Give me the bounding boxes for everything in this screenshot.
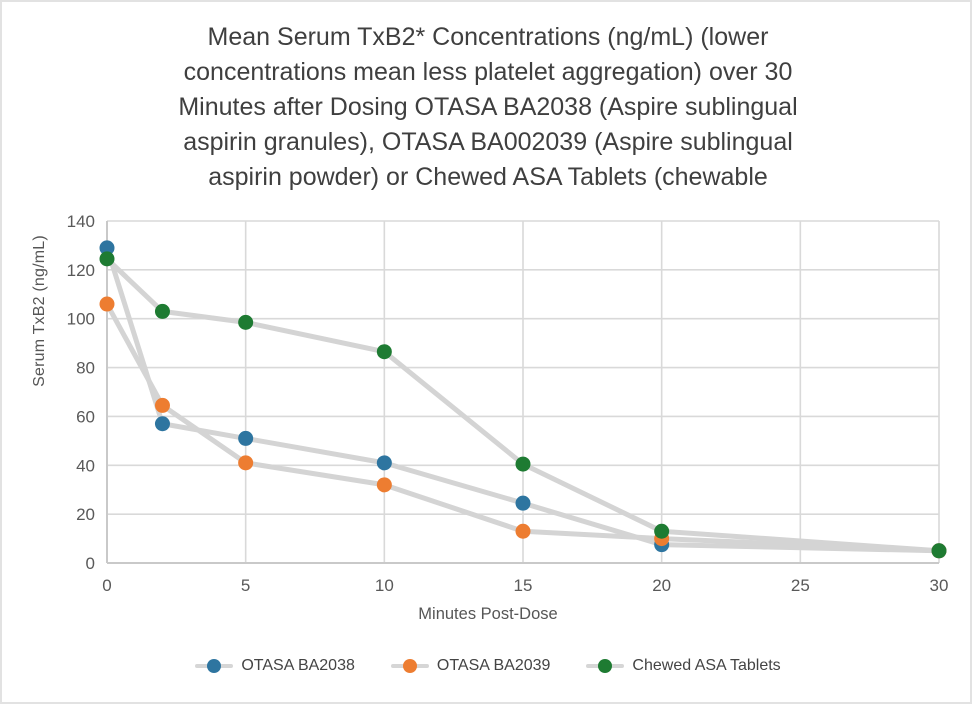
y-tick-label: 40 bbox=[76, 456, 95, 475]
chart-title: Mean Serum TxB2* Concentrations (ng/mL) … bbox=[98, 20, 878, 195]
data-point bbox=[238, 431, 253, 446]
chart-legend: OTASA BA2038OTASA BA2039Chewed ASA Table… bbox=[2, 657, 972, 675]
legend-marker-dot bbox=[598, 659, 612, 673]
data-point bbox=[238, 315, 253, 330]
y-tick-label: 20 bbox=[76, 505, 95, 524]
data-point bbox=[155, 304, 170, 319]
y-tick-label: 60 bbox=[76, 407, 95, 426]
legend-item[interactable]: OTASA BA2038 bbox=[195, 657, 355, 675]
data-point bbox=[155, 416, 170, 431]
x-tick-label: 15 bbox=[514, 576, 533, 595]
y-tick-label: 0 bbox=[86, 554, 95, 573]
legend-line-swatch bbox=[195, 664, 233, 668]
legend-item[interactable]: Chewed ASA Tablets bbox=[586, 657, 780, 675]
legend-label: OTASA BA2039 bbox=[437, 657, 551, 675]
x-axis-title: Minutes Post-Dose bbox=[2, 605, 972, 624]
chart-figure: Mean Serum TxB2* Concentrations (ng/mL) … bbox=[0, 0, 972, 704]
data-point bbox=[100, 297, 115, 312]
legend-label: Chewed ASA Tablets bbox=[632, 657, 780, 675]
legend-marker-dot bbox=[207, 659, 221, 673]
data-point bbox=[155, 398, 170, 413]
x-tick-label: 20 bbox=[652, 576, 671, 595]
y-tick-label: 100 bbox=[67, 310, 95, 329]
data-point bbox=[932, 543, 947, 558]
y-axis-title: Serum TxB2 (ng/mL) bbox=[31, 211, 49, 411]
plot-svg: 020406080100120140051015202530 bbox=[2, 202, 972, 602]
data-point bbox=[654, 524, 669, 539]
data-point bbox=[100, 251, 115, 266]
data-point bbox=[516, 496, 531, 511]
data-point bbox=[377, 455, 392, 470]
legend-line-swatch bbox=[586, 664, 624, 668]
x-tick-label: 25 bbox=[791, 576, 810, 595]
legend-item[interactable]: OTASA BA2039 bbox=[391, 657, 551, 675]
legend-marker-dot bbox=[403, 659, 417, 673]
x-tick-label: 5 bbox=[241, 576, 250, 595]
plot-area-wrapper: 020406080100120140051015202530 bbox=[2, 202, 972, 602]
x-tick-label: 0 bbox=[102, 576, 111, 595]
legend-label: OTASA BA2038 bbox=[241, 657, 355, 675]
data-point bbox=[377, 477, 392, 492]
y-tick-label: 140 bbox=[67, 212, 95, 231]
data-point bbox=[238, 455, 253, 470]
data-point bbox=[377, 344, 392, 359]
data-point bbox=[516, 457, 531, 472]
data-point bbox=[516, 524, 531, 539]
x-tick-label: 10 bbox=[375, 576, 394, 595]
legend-line-swatch bbox=[391, 664, 429, 668]
x-tick-label: 30 bbox=[930, 576, 949, 595]
y-tick-label: 120 bbox=[67, 261, 95, 280]
y-tick-label: 80 bbox=[76, 359, 95, 378]
